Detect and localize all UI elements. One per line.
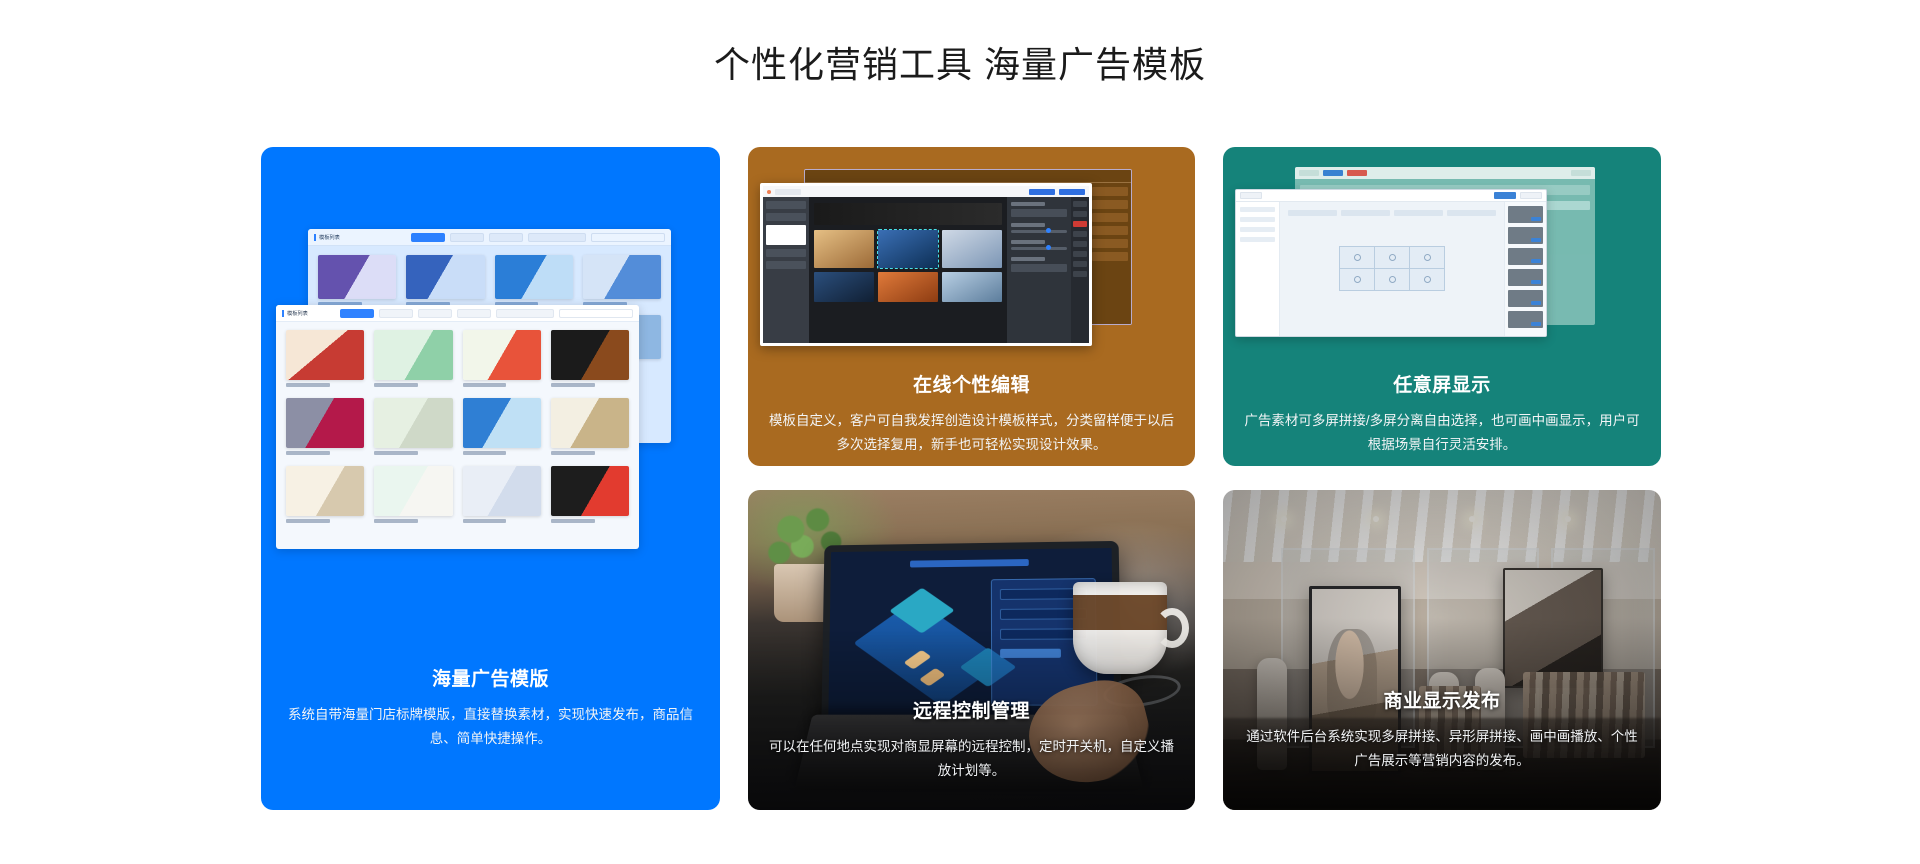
screen-cell[interactable] bbox=[1340, 247, 1374, 268]
editor-image-row-2 bbox=[814, 272, 1002, 302]
card-text-remote: 远程控制管理 可以在任何地点实现对商显屏幕的远程控制，定时开关机，自定义播放计划… bbox=[748, 698, 1195, 783]
filter-pill-back-2[interactable] bbox=[489, 233, 523, 242]
editor-image[interactable] bbox=[878, 272, 938, 302]
editor-back-titlebar bbox=[805, 170, 1131, 183]
device-card[interactable] bbox=[1508, 248, 1543, 265]
screen-cell[interactable] bbox=[1375, 247, 1409, 268]
template-item[interactable] bbox=[463, 398, 541, 455]
filter-pill-back-1[interactable] bbox=[450, 233, 484, 242]
template-gallery-grid bbox=[276, 322, 639, 531]
template-item[interactable] bbox=[463, 466, 541, 523]
toolbar-chip[interactable] bbox=[1571, 170, 1591, 176]
screen-cell[interactable] bbox=[1375, 269, 1409, 290]
template-item[interactable] bbox=[374, 466, 452, 523]
editor-screenshot-front bbox=[760, 183, 1092, 346]
feature-card-editor[interactable]: 在线个性编辑 模板自定义，客户可自我发挥创造设计模板样式，分类留样便于以后多次选… bbox=[748, 147, 1195, 466]
screen-layout-device-rail[interactable] bbox=[1504, 202, 1546, 336]
search-input[interactable] bbox=[559, 309, 633, 318]
screen-layout-screenshot-front bbox=[1235, 189, 1547, 337]
toolbar-chip-danger[interactable] bbox=[1347, 170, 1367, 176]
screen-cell[interactable] bbox=[1410, 269, 1444, 290]
feature-card-anyscreen[interactable]: 任意屏显示 广告素材可多屏拼接/多屏分离自由选择，也可画中画显示，用户可根据场景… bbox=[1223, 147, 1661, 466]
app-logo-icon bbox=[767, 190, 771, 194]
editor-toolbar-icons[interactable] bbox=[1071, 197, 1089, 343]
card-title: 任意屏显示 bbox=[1241, 372, 1643, 400]
screen-layout-main bbox=[1236, 202, 1546, 336]
layout-reset-button[interactable] bbox=[1520, 192, 1542, 199]
card-description: 系统自带海量门店标牌模版，直接替换素材，实现快速发布，商品信息、简单快捷操作。 bbox=[279, 703, 702, 751]
layout-apply-button[interactable] bbox=[1494, 192, 1516, 199]
feature-card-remote[interactable]: 远程控制管理 可以在任何地点实现对商显屏幕的远程控制，定时开关机，自定义播放计划… bbox=[748, 490, 1195, 810]
template-item[interactable] bbox=[551, 398, 629, 455]
editor-publish-button[interactable] bbox=[1059, 189, 1085, 195]
editor-image[interactable] bbox=[814, 272, 874, 302]
editor-banner-element[interactable] bbox=[814, 203, 1002, 225]
editor-tab[interactable] bbox=[775, 189, 801, 195]
screen-cell[interactable] bbox=[1340, 269, 1374, 290]
template-list-label: 模板列表 bbox=[282, 310, 308, 317]
card-text-editor: 在线个性编辑 模板自定义，客户可自我发挥创造设计模板样式，分类留样便于以后多次选… bbox=[748, 372, 1195, 457]
layout-tab[interactable] bbox=[1240, 192, 1262, 199]
new-template-button[interactable] bbox=[340, 309, 374, 318]
new-template-button-back[interactable] bbox=[411, 233, 445, 242]
device-card[interactable] bbox=[1508, 290, 1543, 307]
card-description: 模板自定义，客户可自我发挥创造设计模板样式，分类留样便于以后多次选择复用，新手也… bbox=[766, 409, 1177, 457]
category-filter[interactable] bbox=[379, 309, 413, 318]
template-gallery-screenshot-front: 模板列表 bbox=[276, 305, 639, 549]
template-item[interactable] bbox=[286, 398, 364, 455]
status-filter[interactable] bbox=[457, 309, 491, 318]
template-item[interactable] bbox=[463, 330, 541, 387]
device-card[interactable] bbox=[1508, 311, 1543, 328]
feature-card-retail[interactable]: 商业显示发布 通过软件后台系统实现多屏拼接、异形屏拼接、画中画播放、个性广告展示… bbox=[1223, 490, 1661, 810]
card-description: 广告素材可多屏拼接/多屏分离自由选择，也可画中画显示，用户可根据场景自行灵活安排… bbox=[1241, 409, 1643, 457]
card-text-retail: 商业显示发布 通过软件后台系统实现多屏拼接、异形屏拼接、画中画播放、个性广告展示… bbox=[1223, 688, 1661, 773]
device-card[interactable] bbox=[1508, 206, 1543, 223]
screen-heading-bar bbox=[910, 559, 1029, 567]
template-item[interactable] bbox=[374, 398, 452, 455]
card-title: 海量广告模版 bbox=[279, 666, 702, 694]
template-item[interactable] bbox=[583, 255, 661, 306]
editor-titlebar bbox=[763, 186, 1089, 197]
screen-split-grid[interactable] bbox=[1339, 246, 1445, 291]
editor-image-row-1 bbox=[814, 230, 1002, 268]
marketing-feature-page: 个性化营销工具 海量广告模板 模板列表 bbox=[0, 0, 1920, 864]
template-item[interactable] bbox=[406, 255, 484, 306]
device-card[interactable] bbox=[1508, 269, 1543, 286]
page-title: 个性化营销工具 海量广告模板 bbox=[0, 42, 1920, 88]
card-title: 远程控制管理 bbox=[766, 698, 1177, 726]
template-gallery-back-toolbar: 模板列表 bbox=[308, 229, 671, 246]
template-item[interactable] bbox=[551, 330, 629, 387]
toolbar-chip[interactable] bbox=[1299, 170, 1319, 176]
screen-layout-canvas[interactable] bbox=[1280, 202, 1504, 336]
screen-layout-sidebar[interactable] bbox=[1236, 202, 1280, 336]
editor-image[interactable] bbox=[942, 230, 1002, 268]
card-title: 在线个性编辑 bbox=[766, 372, 1177, 400]
template-item[interactable] bbox=[551, 466, 629, 523]
screen-cell[interactable] bbox=[1410, 247, 1444, 268]
template-item[interactable] bbox=[374, 330, 452, 387]
editor-image[interactable] bbox=[942, 272, 1002, 302]
card-text-anyscreen: 任意屏显示 广告素材可多屏拼接/多屏分离自由选择，也可画中画显示，用户可根据场景… bbox=[1223, 372, 1661, 457]
resolution-select[interactable] bbox=[496, 309, 554, 318]
device-card[interactable] bbox=[1508, 227, 1543, 244]
editor-canvas-stage[interactable] bbox=[809, 197, 1007, 343]
resolution-select-back[interactable] bbox=[528, 233, 586, 242]
canvas-toolrow bbox=[1288, 210, 1496, 216]
editor-image[interactable] bbox=[814, 230, 874, 268]
template-gallery-back-label: 模板列表 bbox=[314, 234, 340, 241]
card-title: 商业显示发布 bbox=[1241, 688, 1643, 716]
editor-back-rail bbox=[1089, 183, 1131, 324]
editor-properties-panel[interactable] bbox=[1007, 197, 1071, 343]
screen-layout-back-toolbar bbox=[1295, 167, 1595, 179]
feature-card-templates[interactable]: 模板列表 bbox=[261, 147, 720, 810]
feature-card-grid: 模板列表 bbox=[261, 147, 1661, 810]
card-text-templates: 海量广告模版 系统自带海量门店标牌模版，直接替换素材，实现快速发布，商品信息、简… bbox=[261, 666, 720, 751]
card-description: 可以在任何地点实现对商显屏幕的远程控制，定时开关机，自定义播放计划等。 bbox=[766, 735, 1177, 783]
size-filter[interactable] bbox=[418, 309, 452, 318]
toolbar-chip-primary[interactable] bbox=[1323, 170, 1343, 176]
template-item[interactable] bbox=[286, 466, 364, 523]
screen-layout-toolbar bbox=[1236, 190, 1546, 202]
template-gallery-toolbar: 模板列表 bbox=[276, 305, 639, 322]
editor-body bbox=[763, 197, 1089, 343]
template-item[interactable] bbox=[318, 255, 396, 306]
card-description: 通过软件后台系统实现多屏拼接、异形屏拼接、画中画播放、个性广告展示等营销内容的发… bbox=[1241, 725, 1643, 773]
template-item[interactable] bbox=[495, 255, 573, 306]
editor-save-button[interactable] bbox=[1029, 189, 1055, 195]
editor-image-selected[interactable] bbox=[878, 230, 938, 268]
editor-asset-panel[interactable] bbox=[763, 197, 809, 343]
template-item[interactable] bbox=[286, 330, 364, 387]
search-input-back[interactable] bbox=[591, 233, 665, 242]
